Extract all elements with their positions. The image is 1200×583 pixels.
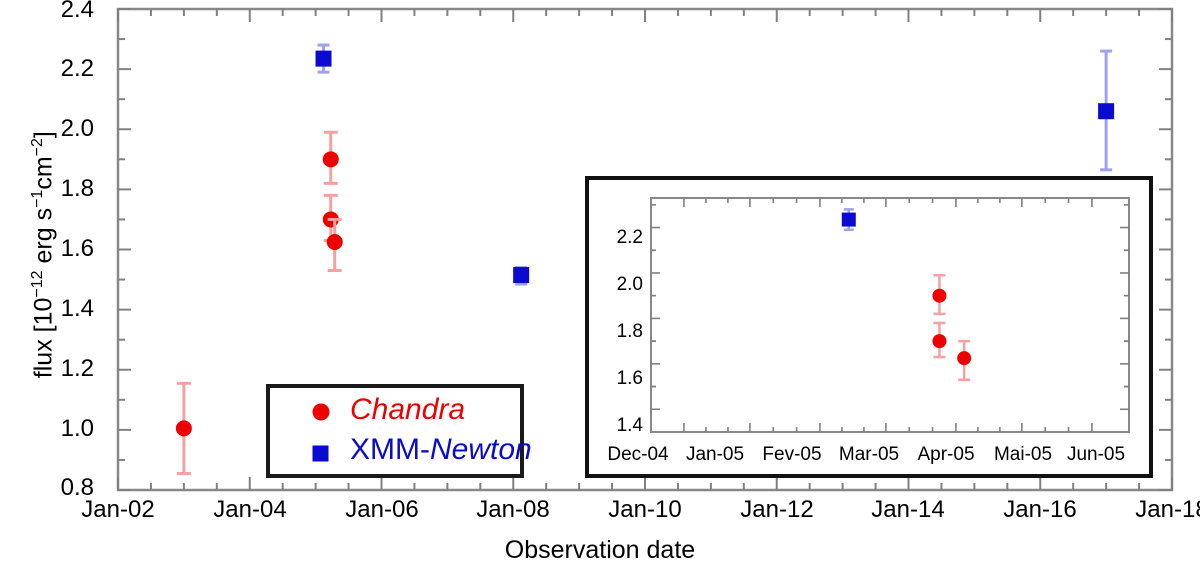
inset-data-points xyxy=(842,209,971,379)
inset-plot-box: 2.2 2.0 1.8 1.6 1.4 Dec-04 Jan-05 Fev-05… xyxy=(585,176,1153,478)
x-tick-label-5: Jan-12 xyxy=(702,496,852,524)
inset-y-tick-label-0: 1.4 xyxy=(585,415,643,437)
inset-axes-frame xyxy=(651,198,1129,432)
x-tick-label-8: Jan-18 xyxy=(1097,496,1200,524)
legend-label-xmm: XMM-Newton xyxy=(350,433,532,467)
x-tick-label-0: Jan-02 xyxy=(43,496,193,524)
x-tick-label-1: Jan-04 xyxy=(175,496,325,524)
inset-y-tick-label-3: 2.0 xyxy=(585,274,643,296)
inset-plot-canvas xyxy=(589,180,1149,474)
x-axis-title: Observation date xyxy=(0,536,1200,565)
y-tick-label-3: 1.4 xyxy=(8,295,94,323)
inset-y-tick-label-1: 1.6 xyxy=(585,368,643,390)
x-tick-label-3: Jan-08 xyxy=(438,496,588,524)
legend-label-xmm-upright: XMM- xyxy=(350,433,430,466)
x-tick-label-6: Jan-14 xyxy=(833,496,983,524)
legend-entry-xmm[interactable]: XMM-Newton xyxy=(280,433,520,473)
inset-x-tick-label-6: Jun-05 xyxy=(1041,444,1151,466)
legend-entry-chandra[interactable]: Chandra xyxy=(280,393,520,433)
y-tick-label-4: 1.6 xyxy=(8,235,94,263)
y-tick-label-2: 1.2 xyxy=(8,355,94,383)
y-tick-label-5: 1.8 xyxy=(8,175,94,203)
legend-label-chandra: Chandra xyxy=(350,393,465,427)
y-tick-label-8: 2.4 xyxy=(8,0,94,24)
xmm-marker-icon xyxy=(310,443,332,465)
chandra-marker-icon xyxy=(310,401,332,423)
x-tick-label-4: Jan-10 xyxy=(570,496,720,524)
x-tick-label-7: Jan-16 xyxy=(965,496,1115,524)
inset-y-tick-label-4: 2.2 xyxy=(585,227,643,249)
x-tick-label-2: Jan-06 xyxy=(307,496,457,524)
y-tick-label-1: 1.0 xyxy=(8,415,94,443)
inset-axis-ticks xyxy=(651,198,1129,432)
y-tick-label-7: 2.2 xyxy=(8,55,94,83)
inset-y-tick-label-2: 1.8 xyxy=(585,321,643,343)
y-tick-label-6: 2.0 xyxy=(8,115,94,143)
legend-box: Chandra XMM-Newton xyxy=(266,384,524,478)
figure-root: flux [10−12 erg s−1cm−2] Observation dat… xyxy=(0,0,1200,583)
legend-label-xmm-italic: Newton xyxy=(430,433,532,466)
